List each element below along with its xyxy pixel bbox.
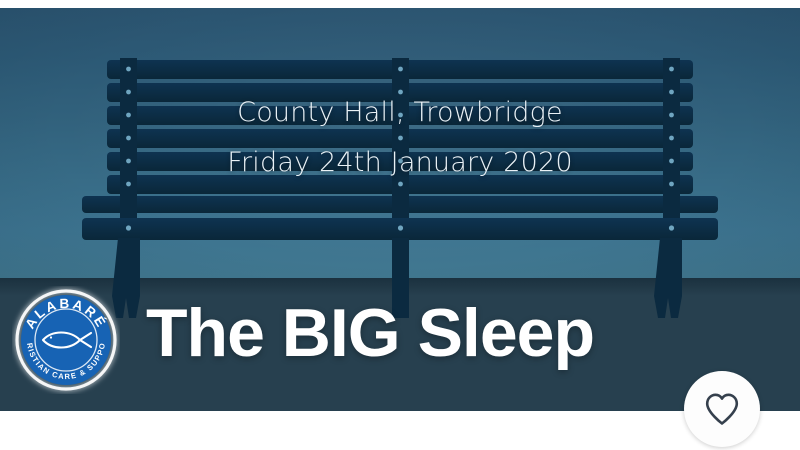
event-details: County Hall, Trowbridge Friday 24th Janu… — [0, 88, 800, 188]
event-date: Friday 24th January 2020 — [0, 138, 800, 188]
alabare-logo: ALABARÉ CHRISTIAN CARE & SUPPORT — [12, 286, 120, 394]
top-white-strip — [0, 0, 800, 8]
favourite-button[interactable] — [684, 371, 760, 447]
heart-icon — [704, 392, 740, 426]
big-sleep-poster: County Hall, Trowbridge Friday 24th Janu… — [0, 0, 800, 450]
page-bottom-white — [0, 411, 800, 450]
page-title: The BIG Sleep — [146, 297, 594, 369]
event-venue: County Hall, Trowbridge — [0, 88, 800, 138]
